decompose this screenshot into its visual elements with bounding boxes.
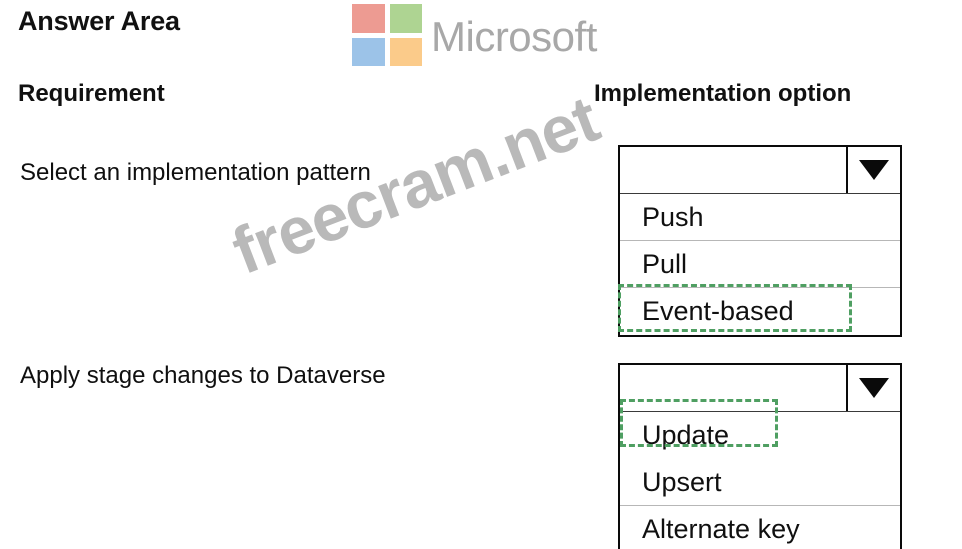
square-top-right bbox=[390, 4, 423, 33]
implementation-pattern-dropdown[interactable]: Push Pull Event-based bbox=[618, 145, 902, 337]
option-event-based[interactable]: Event-based bbox=[620, 288, 900, 335]
option-pull[interactable]: Pull bbox=[620, 241, 900, 288]
implementation-pattern-dropdown-field[interactable] bbox=[620, 147, 900, 194]
microsoft-wordmark: Microsoft bbox=[431, 16, 597, 58]
microsoft-logo-squares bbox=[352, 4, 422, 66]
requirement-label-apply-stage-changes: Apply stage changes to Dataverse bbox=[20, 362, 386, 390]
implementation-pattern-option-list: Push Pull Event-based bbox=[620, 194, 900, 335]
requirement-label-select-implementation-pattern: Select an implementation pattern bbox=[20, 159, 371, 187]
answer-area-page: Answer Area Microsoft Requirement Implem… bbox=[0, 0, 962, 549]
microsoft-logo: Microsoft bbox=[352, 4, 597, 66]
square-top-left bbox=[352, 4, 385, 33]
dataverse-stage-changes-dropdown[interactable]: Update Upsert Alternate key bbox=[618, 363, 902, 549]
chevron-down-icon bbox=[859, 378, 889, 398]
square-bottom-left bbox=[352, 38, 385, 67]
chevron-down-icon bbox=[859, 160, 889, 180]
implementation-pattern-dropdown-toggle[interactable] bbox=[846, 147, 900, 193]
dataverse-stage-changes-option-list: Update Upsert Alternate key bbox=[620, 412, 900, 549]
option-update[interactable]: Update bbox=[620, 412, 900, 459]
square-bottom-right bbox=[390, 38, 423, 67]
option-upsert[interactable]: Upsert bbox=[620, 459, 900, 506]
option-push[interactable]: Push bbox=[620, 194, 900, 241]
option-alternate-key[interactable]: Alternate key bbox=[620, 506, 900, 549]
page-title: Answer Area bbox=[18, 6, 180, 37]
column-header-requirement: Requirement bbox=[18, 80, 165, 108]
dataverse-stage-changes-dropdown-field[interactable] bbox=[620, 365, 900, 412]
column-header-implementation-option: Implementation option bbox=[594, 80, 851, 108]
dataverse-stage-changes-dropdown-toggle[interactable] bbox=[846, 365, 900, 411]
